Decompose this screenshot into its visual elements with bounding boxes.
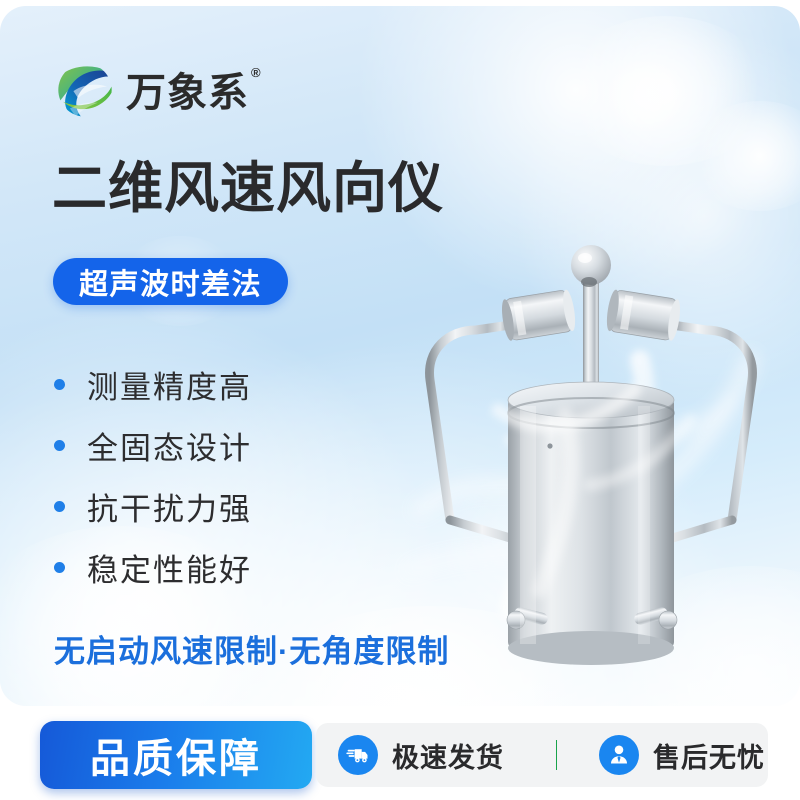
bullet-dot-icon xyxy=(54,501,65,512)
service-item-after-sales[interactable]: 售后无忧 xyxy=(583,723,781,787)
cloud-blob xyxy=(600,566,800,706)
bullet-dot-icon xyxy=(54,562,65,573)
registered-mark: ® xyxy=(251,65,261,80)
feature-label: 测量精度高 xyxy=(87,362,252,407)
bullet-dot-icon xyxy=(54,440,65,451)
globe-swirl-logo-icon xyxy=(56,61,114,119)
bullet-dot-icon xyxy=(54,379,65,390)
feature-list: 测量精度高 全固态设计 抗干扰力强 稳定性能好 xyxy=(54,356,354,600)
list-item: 测量精度高 xyxy=(54,356,354,412)
cloud-blob xyxy=(560,16,770,166)
product-promo-canvas: 万象系 ® 二维风速风向仪 超声波时差法 测量精度高 全固态设计 抗干扰力强 稳… xyxy=(0,0,800,800)
feature-label: 全固态设计 xyxy=(87,423,252,468)
method-badge: 超声波时差法 xyxy=(53,258,288,305)
divider xyxy=(556,740,557,770)
service-label: 售后无忧 xyxy=(653,736,765,775)
cloud-blob xyxy=(600,61,690,131)
service-item-fast-delivery[interactable]: 极速发货 xyxy=(316,723,520,787)
cloud-blob xyxy=(690,101,800,211)
method-badge-label: 超声波时差法 xyxy=(79,261,262,303)
brand-name: 万象系 xyxy=(126,73,249,113)
feature-label: 抗干扰力强 xyxy=(87,484,252,529)
customer-service-icon xyxy=(599,735,639,775)
page-title: 二维风速风向仪 xyxy=(52,158,444,219)
bottom-assurance-bar: 品质保障 极速发货 xyxy=(0,712,800,800)
quality-guarantee-label: 品质保障 xyxy=(90,726,262,784)
feature-label: 稳定性能好 xyxy=(87,545,252,590)
service-label: 极速发货 xyxy=(392,736,504,775)
list-item: 抗干扰力强 xyxy=(54,478,354,534)
quality-guarantee-button[interactable]: 品质保障 xyxy=(40,721,312,789)
list-item: 全固态设计 xyxy=(54,417,354,473)
list-item: 稳定性能好 xyxy=(54,539,354,595)
delivery-truck-icon xyxy=(338,735,378,775)
service-badge-bar: 极速发货 售后无忧 xyxy=(316,723,768,787)
brand-logo: 万象系 ® xyxy=(56,58,259,122)
subtitle-tagline: 无启动风速限制·无角度限制 xyxy=(54,626,449,671)
cloud-blob xyxy=(430,476,630,626)
